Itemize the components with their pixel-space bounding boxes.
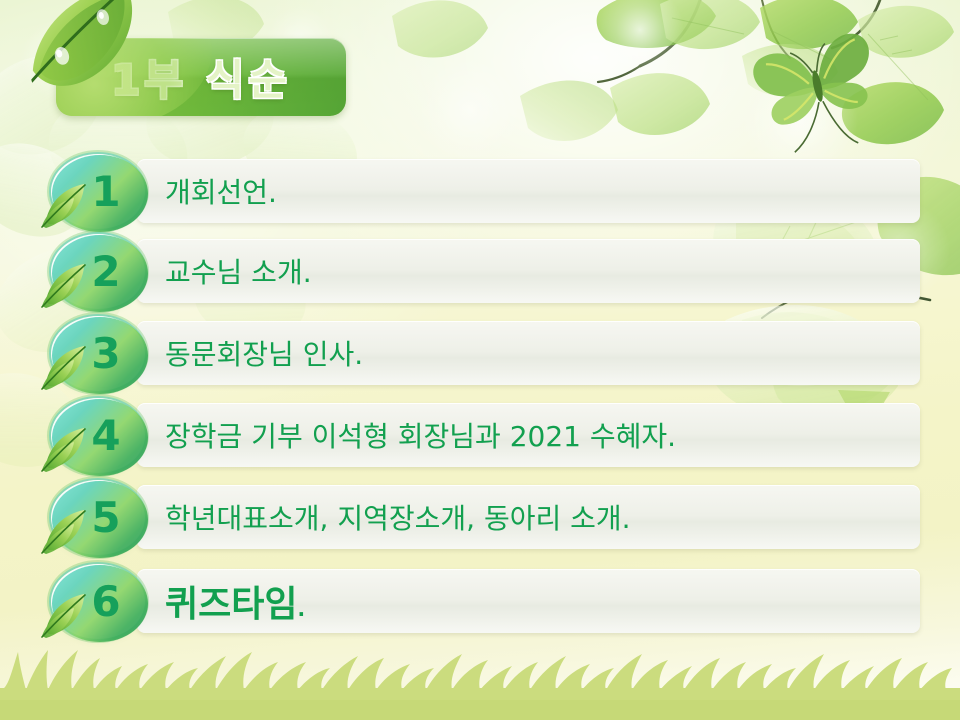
agenda-text-6-main: 퀴즈타임 — [165, 584, 297, 625]
agenda-number-3: 3 — [54, 319, 142, 388]
agenda-text-5: 학년대표소개, 지역장소개, 동아리 소개. — [165, 497, 631, 537]
agenda-badge-4: 4 — [46, 398, 144, 474]
agenda-number-5: 5 — [54, 483, 142, 552]
agenda-number-2: 2 — [54, 237, 142, 306]
agenda-bar-5[interactable]: 학년대표소개, 지역장소개, 동아리 소개. — [137, 485, 920, 549]
agenda-number-6: 6 — [54, 567, 142, 636]
agenda-bar-6[interactable]: 퀴즈타임. — [137, 569, 920, 633]
agenda-text-6-suffix: . — [297, 597, 305, 621]
agenda-bar-4[interactable]: 장학금 기부 이석형 회장님과 2021 수혜자. — [137, 403, 920, 467]
agenda-text-1: 개회선언. — [165, 171, 277, 211]
agenda-bar-3[interactable]: 동문회장님 인사. — [137, 321, 920, 385]
agenda-text-2: 교수님 소개. — [165, 251, 312, 291]
agenda-badge-3: 3 — [46, 316, 144, 392]
agenda-row-2[interactable]: 교수님 소개. 2 — [0, 235, 960, 311]
agenda-text-3: 동문회장님 인사. — [165, 333, 363, 373]
agenda-row-1[interactable]: 개회선언. 1 — [0, 155, 960, 231]
agenda-row-6[interactable]: 퀴즈타임. 6 — [0, 565, 960, 641]
agenda-number-4: 4 — [54, 401, 142, 470]
agenda-badge-1: 1 — [46, 154, 144, 230]
agenda-text-6: 퀴즈타임. — [165, 575, 305, 627]
agenda-row-3[interactable]: 동문회장님 인사. 3 — [0, 317, 960, 393]
agenda-bar-1[interactable]: 개회선언. — [137, 159, 920, 223]
agenda-number-1: 1 — [54, 157, 142, 226]
presentation-slide: 1부 식순 개회선언. — [0, 0, 960, 720]
agenda-bar-2[interactable]: 교수님 소개. — [137, 239, 920, 303]
agenda-row-5[interactable]: 학년대표소개, 지역장소개, 동아리 소개. 5 — [0, 481, 960, 557]
butterfly-icon — [749, 30, 887, 161]
agenda-text-4: 장학금 기부 이석형 회장님과 2021 수혜자. — [165, 415, 676, 455]
agenda-badge-5: 5 — [46, 480, 144, 556]
agenda-badge-6: 6 — [46, 564, 144, 640]
agenda-row-4[interactable]: 장학금 기부 이석형 회장님과 2021 수혜자. 4 — [0, 399, 960, 475]
agenda-badge-2: 2 — [46, 234, 144, 310]
grass-border-icon — [0, 650, 960, 720]
